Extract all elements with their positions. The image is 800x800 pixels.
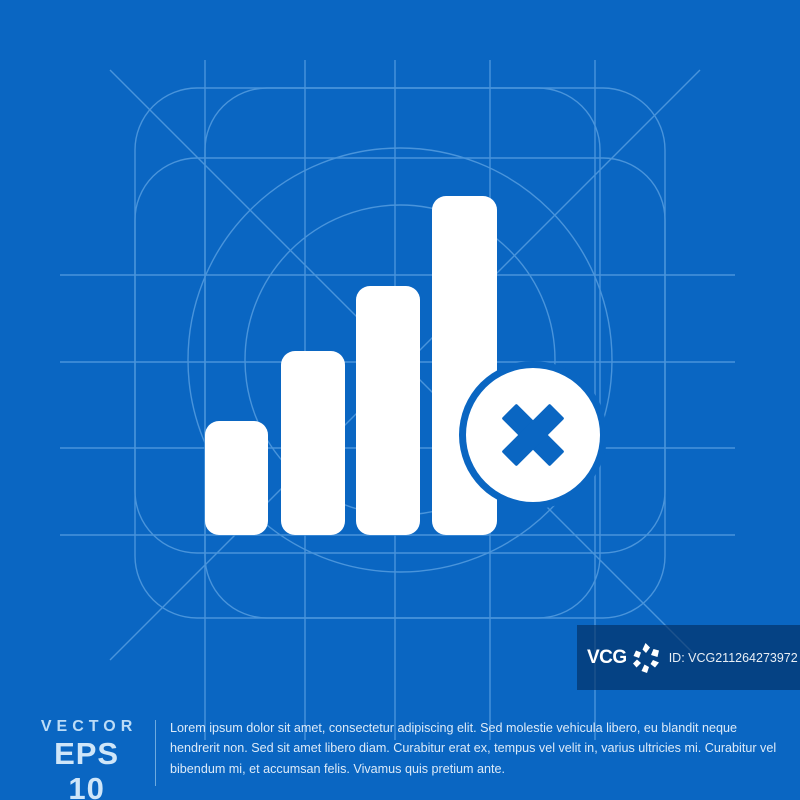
footer-description-text: Lorem ipsum dolor sit amet, consectetur … xyxy=(170,718,800,779)
footer-divider xyxy=(155,720,156,786)
chart-bar-2 xyxy=(281,351,345,535)
eps-version-label: EPS 10 xyxy=(32,736,141,800)
vcg-burst-icon xyxy=(629,641,663,675)
chart-bar-3 xyxy=(356,286,420,535)
watermark-id-text: ID: VCG211264273972 xyxy=(669,651,798,665)
vcg-logo: VCG xyxy=(587,641,663,675)
chart-bar-1 xyxy=(205,421,268,535)
watermark: VCG ID: VCG211264273972 xyxy=(577,625,800,690)
vector-eps-block: VECTOR EPS 10 xyxy=(32,718,141,800)
vcg-brand-text: VCG xyxy=(587,647,627,669)
vector-label: VECTOR xyxy=(32,718,141,736)
footer: VECTOR EPS 10 Lorem ipsum dolor sit amet… xyxy=(0,700,800,800)
illustration-canvas: VCG ID: VCG211264273972 VECTOR EPS 10 Lo… xyxy=(0,0,800,800)
